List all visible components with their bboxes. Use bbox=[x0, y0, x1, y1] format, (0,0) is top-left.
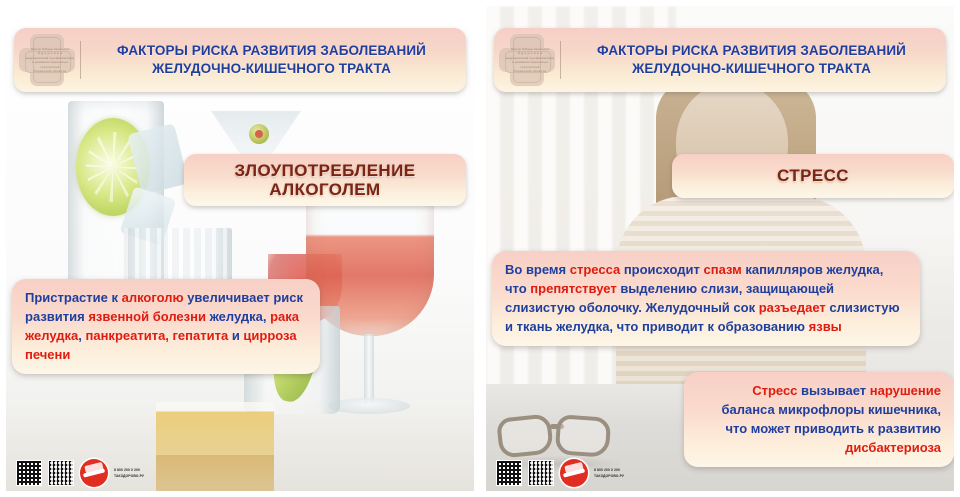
text-run-0: Во время bbox=[505, 262, 570, 277]
footer-phone: 8 800 200 0 200 bbox=[114, 468, 144, 472]
logo-line-5: Рязанской области bbox=[504, 69, 556, 73]
qr-code-left[interactable] bbox=[496, 460, 522, 486]
text-run-4: дисбактериоза bbox=[845, 440, 941, 455]
slide-footer: 8 800 200 0 200 ТАКЗДОРОВО.РУ bbox=[16, 459, 144, 487]
footer-site: ТАКЗДОРОВО.РУ bbox=[594, 474, 624, 478]
text-run-1: стресса bbox=[570, 262, 620, 277]
qr-code-right[interactable] bbox=[528, 460, 554, 486]
text-run-5: препятствует bbox=[530, 281, 616, 296]
text-run-3: спазм bbox=[704, 262, 742, 277]
text-run-1: алкоголю bbox=[122, 290, 184, 305]
page-title: ФАКТОРЫ РИСКА РАЗВИТИЯ ЗАБОЛЕВАНИЙ ЖЕЛУД… bbox=[91, 42, 466, 78]
slide-header-banner: Центр Общественного З д о р о в ь я меди… bbox=[494, 28, 946, 92]
page-title-line-2: ЖЕЛУДОЧНО-КИШЕЧНОГО ТРАКТА bbox=[152, 61, 391, 76]
no-smoking-badge bbox=[80, 459, 108, 487]
text-run-3: баланса микрофлоры кишечника, что может … bbox=[721, 402, 941, 436]
footer-contact: 8 800 200 0 200 ТАКЗДОРОВО.РУ bbox=[114, 468, 144, 478]
footer-contact: 8 800 200 0 200 ТАКЗДОРОВО.РУ bbox=[594, 468, 624, 478]
slide-header-banner: Центр Общественного З д о р о в ь я меди… bbox=[14, 28, 466, 92]
topic-plaque-stress: СТРЕСС bbox=[672, 154, 954, 198]
text-run-1: вызывает bbox=[797, 383, 869, 398]
logo-line-4: и реабилитационных технологий bbox=[504, 60, 556, 69]
topic-plaque-alcohol: ЗЛОУПОТРЕБЛЕНИЕ АЛКОГОЛЕМ bbox=[184, 154, 466, 206]
topic-plaque-label: ЗЛОУПОТРЕБЛЕНИЕ АЛКОГОЛЕМ bbox=[235, 161, 416, 199]
slide-stress: Центр Общественного З д о р о в ь я меди… bbox=[480, 0, 960, 497]
text-run-2: нарушение bbox=[870, 383, 941, 398]
footer-site: ТАКЗДОРОВО.РУ bbox=[114, 474, 144, 478]
banner-divider bbox=[560, 41, 561, 79]
footer-phone: 8 800 200 0 200 bbox=[594, 468, 624, 472]
topic-line-1: ЗЛОУПОТРЕБЛЕНИЕ bbox=[235, 161, 416, 180]
stress-dysbacteriosis-callout: Стресс вызывает нарушение баланса микроф… bbox=[684, 372, 954, 467]
text-run-2: происходит bbox=[620, 262, 703, 277]
page-title-line-2: ЖЕЛУДОЧНО-КИШЕЧНОГО ТРАКТА bbox=[632, 61, 871, 76]
text-run-0: Пристрастие к bbox=[25, 290, 122, 305]
text-run-6: , bbox=[78, 328, 85, 343]
slide-deck: Центр Общественного З д о р о в ь я меди… bbox=[0, 0, 960, 497]
stress-spasm-callout: Во время стресса происходит спазм капилл… bbox=[492, 251, 920, 346]
logo-line-4: и реабилитационных технологий bbox=[24, 60, 76, 69]
slide-alcohol: Центр Общественного З д о р о в ь я меди… bbox=[0, 0, 480, 497]
text-run-8: и bbox=[228, 328, 243, 343]
eyeglasses-prop bbox=[498, 412, 620, 460]
text-run-0: Стресс bbox=[752, 383, 797, 398]
qr-code-left[interactable] bbox=[16, 460, 42, 486]
page-title-line-1: ФАКТОРЫ РИСКА РАЗВИТИЯ ЗАБОЛЕВАНИЙ bbox=[117, 43, 426, 58]
slide-alcohol-canvas: Центр Общественного З д о р о в ь я меди… bbox=[6, 6, 474, 491]
topic-plaque-label: СТРЕСС bbox=[777, 166, 849, 185]
text-run-4: желудка, bbox=[206, 309, 270, 324]
text-run-3: язвенной болезни bbox=[88, 309, 206, 324]
text-run-7: панкреатита, гепатита bbox=[86, 328, 229, 343]
topic-line-2: АЛКОГОЛЕМ bbox=[269, 180, 380, 199]
logo-line-5: Рязанской области bbox=[24, 69, 76, 73]
page-title: ФАКТОРЫ РИСКА РАЗВИТИЯ ЗАБОЛЕВАНИЙ ЖЕЛУД… bbox=[571, 42, 946, 78]
slide-stress-canvas: Центр Общественного З д о р о в ь я меди… bbox=[486, 6, 954, 491]
page-title-line-1: ФАКТОРЫ РИСКА РАЗВИТИЯ ЗАБОЛЕВАНИЙ bbox=[597, 43, 906, 58]
health-center-cross-logo: Центр Общественного З д о р о в ь я меди… bbox=[20, 33, 78, 87]
banner-divider bbox=[80, 41, 81, 79]
text-run-9: язвы bbox=[809, 319, 842, 334]
alcohol-risk-callout: Пристрастие к алкоголю увеличивает риск … bbox=[12, 279, 320, 374]
text-run-7: разъедает bbox=[759, 300, 826, 315]
qr-code-right[interactable] bbox=[48, 460, 74, 486]
no-smoking-badge bbox=[560, 459, 588, 487]
health-center-cross-logo: Центр Общественного З д о р о в ь я меди… bbox=[500, 33, 558, 87]
slide-footer: 8 800 200 0 200 ТАКЗДОРОВО.РУ bbox=[496, 459, 624, 487]
